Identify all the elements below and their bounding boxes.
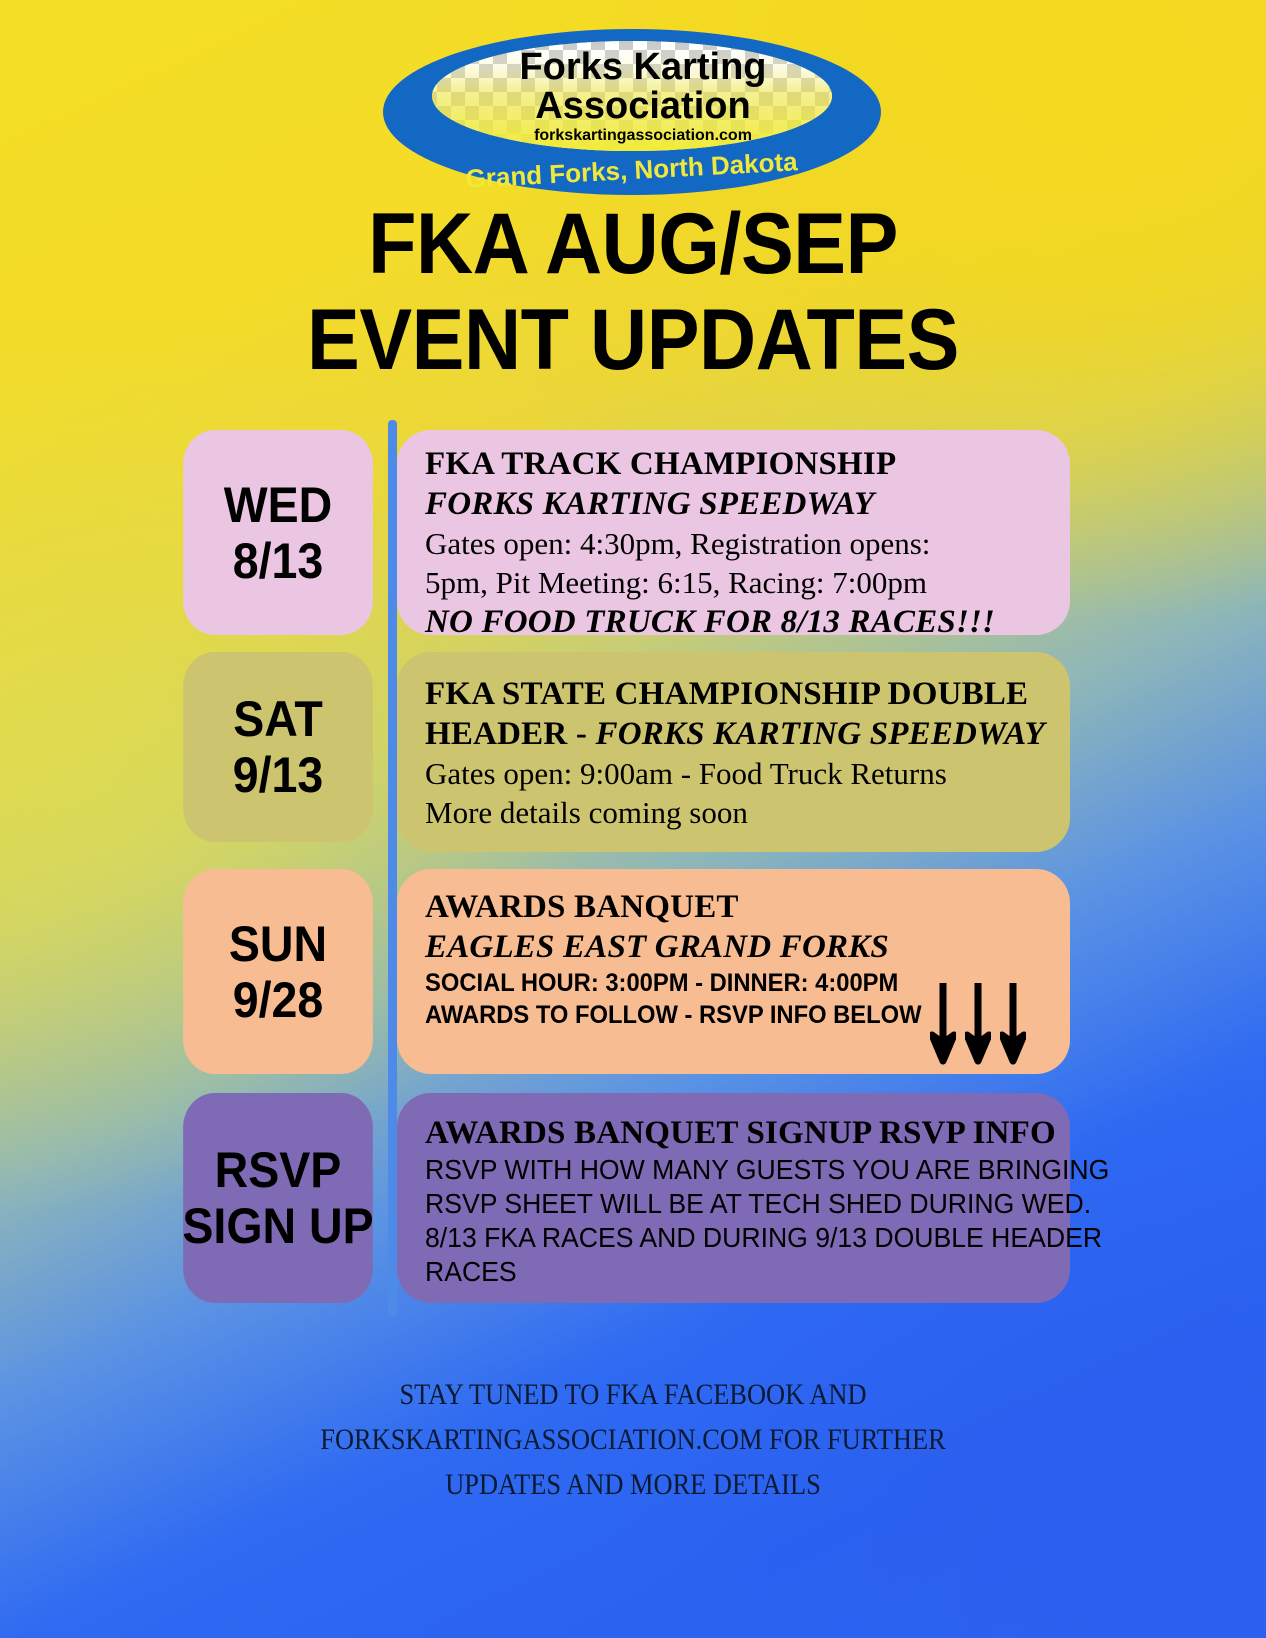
event-bodycard-rsvp: AWARDS BANQUET SIGNUP RSVP INFO RSVP WIT… bbox=[397, 1093, 1070, 1303]
rsvp-pointer-arrows bbox=[930, 983, 1026, 1065]
event-date-sun: 9/28 bbox=[233, 972, 324, 1028]
event-day-wed: WED bbox=[224, 477, 332, 533]
event-sat-line-2: HEADER - FORKS KARTING SPEEDWAY bbox=[425, 714, 1044, 754]
event-daycard-sat: SAT 9/13 bbox=[183, 652, 373, 842]
logo-website: forkskartingassociation.com bbox=[534, 127, 752, 144]
event-date-sat: 9/13 bbox=[233, 747, 324, 803]
event-rsvp-line-2: RSVP WITH HOW MANY GUESTS YOU ARE BRINGI… bbox=[425, 1153, 1013, 1187]
event-sun-line-2: EAGLES EAST GRAND FORKS bbox=[425, 927, 1044, 967]
event-daycard-rsvp: RSVP SIGN UP bbox=[183, 1093, 373, 1303]
event-sat-line-2b: FORKS KARTING SPEEDWAY bbox=[595, 716, 1044, 752]
event-wed-line-2: FORKS KARTING SPEEDWAY bbox=[425, 484, 1044, 524]
event-sun-line-4: AWARDS TO FOLLOW - RSVP INFO BELOW bbox=[425, 999, 1013, 1031]
event-sun-line-3: SOCIAL HOUR: 3:00PM - DINNER: 4:00PM bbox=[425, 967, 1013, 999]
page-title-line1: FKA AUG/SEP bbox=[51, 196, 1216, 292]
footer-line3: UPDATES AND MORE DETAILS bbox=[76, 1462, 1190, 1507]
event-daycard-sun: SUN 9/28 bbox=[183, 869, 373, 1074]
down-arrow-icon-2 bbox=[965, 983, 991, 1065]
event-wed-line-1: FKA TRACK CHAMPIONSHIP bbox=[425, 444, 1044, 484]
logo-line2: Association bbox=[535, 85, 750, 127]
event-date-rsvp: SIGN UP bbox=[182, 1198, 373, 1254]
event-bodycard-sat: FKA STATE CHAMPIONSHIP DOUBLE HEADER - F… bbox=[397, 652, 1070, 852]
footer-line1: STAY TUNED TO FKA FACEBOOK AND bbox=[76, 1372, 1190, 1417]
event-rsvp-line-4: 8/13 FKA RACES AND DURING 9/13 DOUBLE HE… bbox=[425, 1221, 1013, 1255]
event-wed-line-5: NO FOOD TRUCK FOR 8/13 RACES!!! bbox=[425, 602, 1044, 642]
event-daycard-wed: WED 8/13 bbox=[183, 430, 373, 635]
event-rsvp-line-5: RACES bbox=[425, 1255, 1013, 1289]
event-rsvp-line-3: RSVP SHEET WILL BE AT TECH SHED DURING W… bbox=[425, 1187, 1013, 1221]
event-wed-line-3: Gates open: 4:30pm, Registration opens: bbox=[425, 524, 1044, 563]
event-rsvp-line-1: AWARDS BANQUET SIGNUP RSVP INFO bbox=[425, 1113, 1044, 1153]
footer-note: STAY TUNED TO FKA FACEBOOK AND FORKSKART… bbox=[76, 1372, 1190, 1507]
down-arrow-icon-1 bbox=[930, 983, 956, 1065]
event-day-sun: SUN bbox=[229, 916, 327, 972]
event-wed-line-4: 5pm, Pit Meeting: 6:15, Racing: 7:00pm bbox=[425, 563, 1044, 602]
timeline-rule bbox=[388, 420, 397, 1317]
event-sun-line-1: AWARDS BANQUET bbox=[425, 887, 1044, 927]
footer-line2: FORKSKARTINGASSOCIATION.COM FOR FURTHER bbox=[76, 1417, 1190, 1462]
logo-line1: Forks Karting bbox=[519, 46, 766, 88]
event-sat-line-4: More details coming soon bbox=[425, 793, 1044, 832]
page-title: FKA AUG/SEP EVENT UPDATES bbox=[51, 196, 1216, 388]
page-title-line2: EVENT UPDATES bbox=[51, 292, 1216, 388]
event-date-wed: 8/13 bbox=[233, 533, 324, 589]
event-day-rsvp: RSVP bbox=[215, 1142, 342, 1198]
down-arrow-icon-3 bbox=[1000, 983, 1026, 1065]
event-day-sat: SAT bbox=[233, 691, 323, 747]
event-sat-line-2a: HEADER - bbox=[425, 716, 595, 752]
event-sat-line-3: Gates open: 9:00am - Food Truck Returns bbox=[425, 754, 1044, 793]
event-bodycard-wed: FKA TRACK CHAMPIONSHIP FORKS KARTING SPE… bbox=[397, 430, 1070, 635]
event-sat-line-1: FKA STATE CHAMPIONSHIP DOUBLE bbox=[425, 674, 1044, 714]
fka-logo: Forks Karting Association forkskartingas… bbox=[381, 22, 883, 196]
